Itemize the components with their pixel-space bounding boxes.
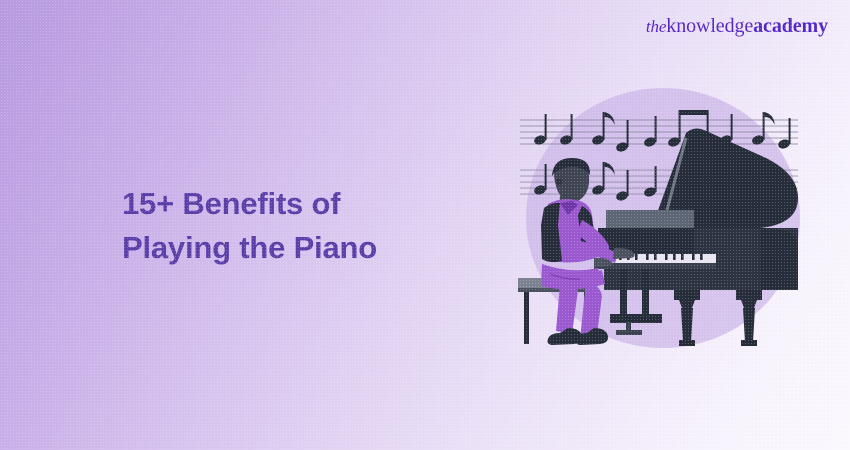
logo-word-academy: academy	[753, 15, 828, 37]
page-title: 15+ Benefits of Playing the Piano	[122, 182, 377, 270]
logo-word-the: the	[646, 17, 666, 36]
banner: theknowledgeacademy 15+ Benefits of Play…	[0, 0, 850, 450]
logo-word-knowledge: knowledge	[666, 15, 753, 37]
piano-illustration	[498, 78, 818, 358]
brand-logo: theknowledgeacademy	[646, 16, 828, 36]
